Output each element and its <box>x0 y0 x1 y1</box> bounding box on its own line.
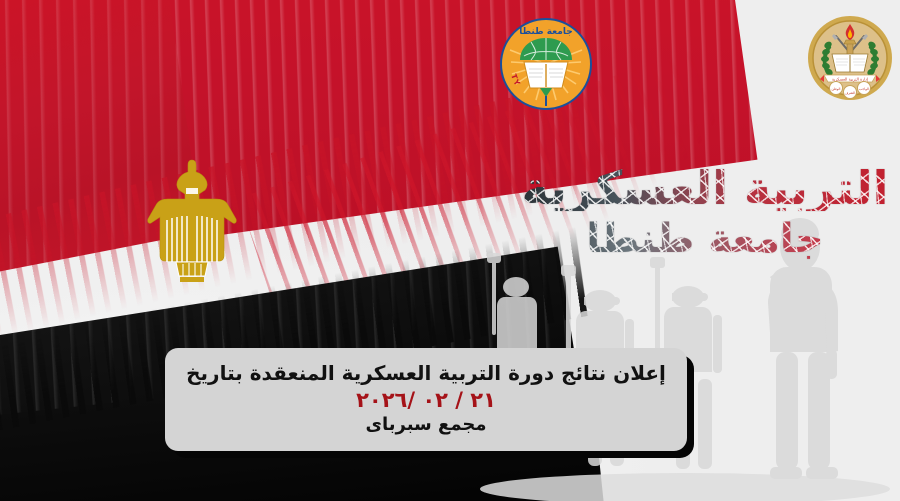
announcement-headline: إعلان نتائج دورة التربية العسكرية المنعق… <box>186 362 666 386</box>
tanta-logo-arabic-text: جامعة طنطا <box>519 27 572 37</box>
announcement-location: مجمع سبرباى <box>366 414 487 435</box>
eagle-of-saladin-icon <box>136 158 248 286</box>
military-education-logo: إدارة التربية العسكرية الوطن الشرف الواج… <box>806 14 894 102</box>
title-art-line-1: التربية العسكرية <box>520 165 890 211</box>
title-artwork: التربية العسكرية جامعة طنطا <box>520 165 890 300</box>
svg-text:الوطن: الوطن <box>831 87 840 91</box>
svg-text:الواجب: الواجب <box>859 87 869 91</box>
svg-text:الشرف: الشرف <box>845 91 855 95</box>
announcement-box: إعلان نتائج دورة التربية العسكرية المنعق… <box>165 348 687 451</box>
title-art-line-2: جامعة طنطا <box>520 219 890 259</box>
tanta-university-logo: جامعة طنطا TANTA UNIVERSITY <box>498 16 594 112</box>
announcement-date: ٢١ / ٠٢ /٢٠٢٦ <box>356 388 496 413</box>
announcement-banner: التربية العسكرية جامعة طنطا جامعة طنطا T… <box>0 0 900 501</box>
